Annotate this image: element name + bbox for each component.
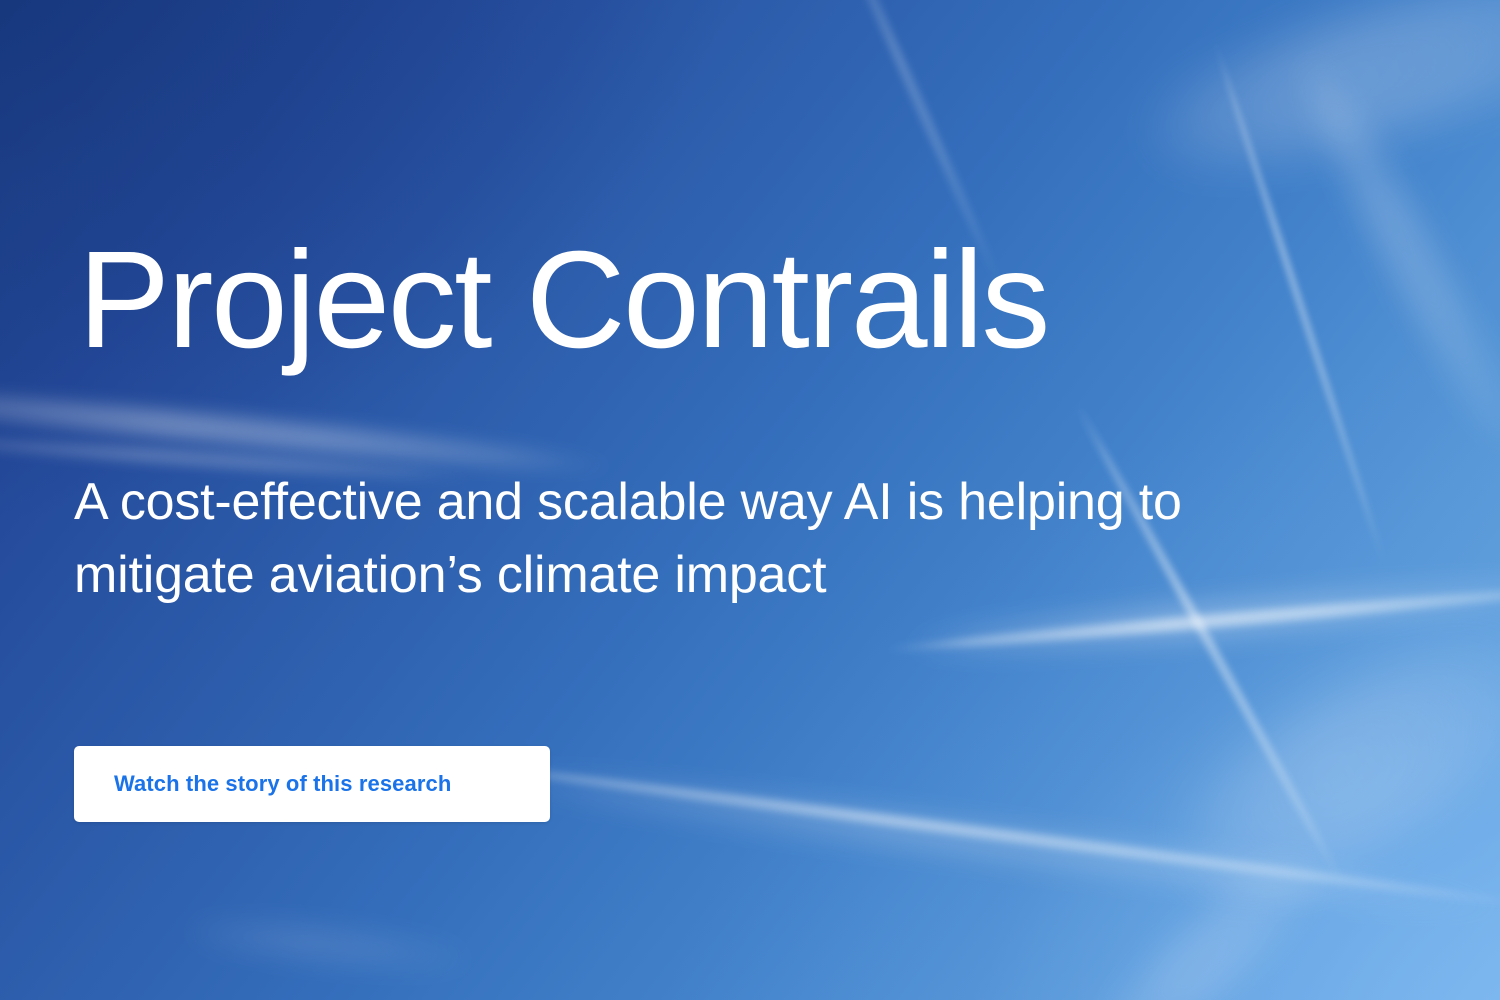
hero-subtitle: A cost-effective and scalable way AI is … <box>74 466 1334 612</box>
hero-banner: Project Contrails A cost-effective and s… <box>0 0 1500 1000</box>
page-title: Project Contrails <box>78 228 1048 373</box>
watch-story-button[interactable]: Watch the story of this research <box>74 746 550 822</box>
hero-content: Project Contrails A cost-effective and s… <box>0 0 1500 1000</box>
